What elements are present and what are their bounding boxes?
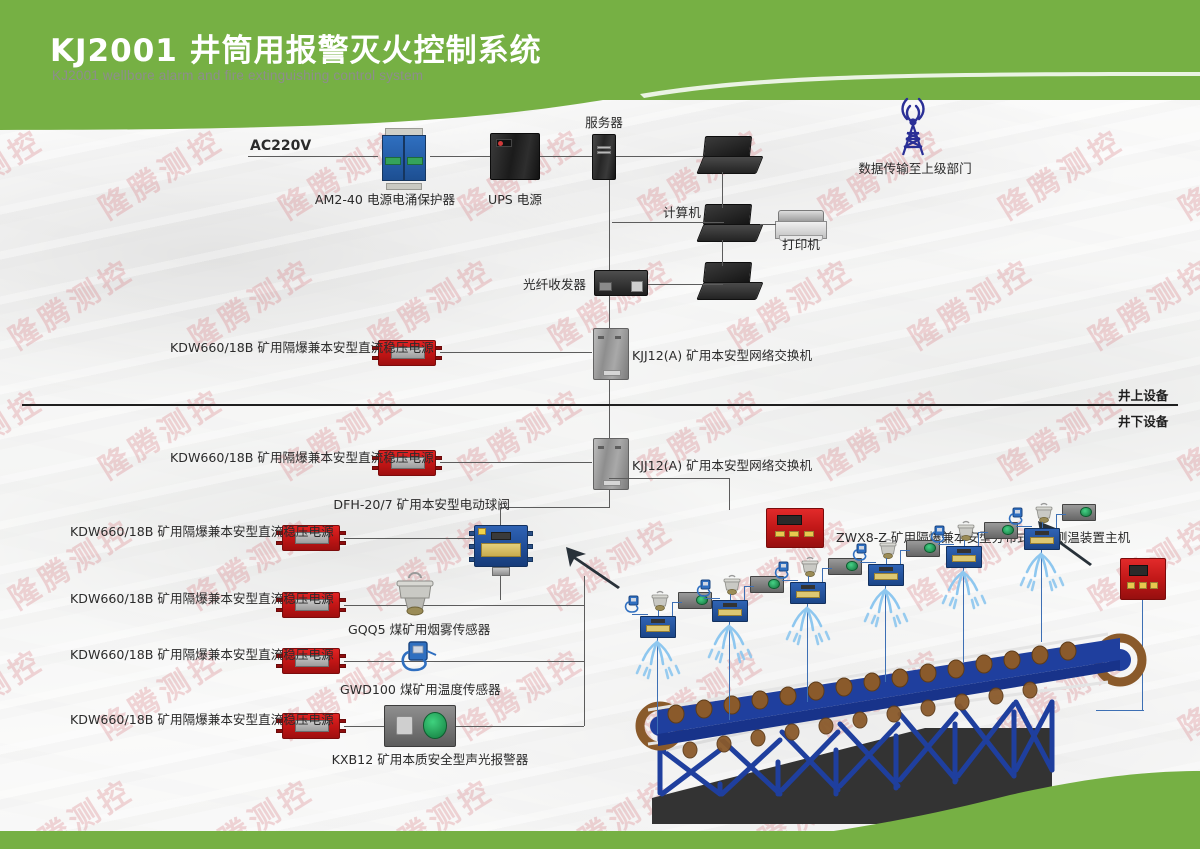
cluster-temp-sensor-icon: [774, 560, 794, 582]
label-computer: 计算机: [663, 203, 701, 222]
label-above-ground: 井上设备: [1118, 385, 1168, 404]
watermark-text: 隆腾测控: [89, 116, 231, 228]
page-subtitle: KJ2001 wellbore alarm and fire extinguis…: [52, 68, 423, 83]
cluster-smoke-sensor-icon: [1032, 502, 1056, 528]
label-power-supply-5: KDW660/18B 矿用隔爆兼本安型直流稳压电源: [70, 710, 275, 729]
label-power-supply-1: KDW660/18B 矿用隔爆兼本安型直流稳压电源: [170, 448, 370, 467]
temperature-sensor-device: [396, 636, 440, 680]
cluster-smoke-sensor-icon: [720, 574, 744, 600]
smoke-sensor-device: [385, 572, 445, 620]
cluster-wire-alarm: [978, 532, 988, 533]
wire-alarm-to-bus: [456, 726, 584, 727]
wire-dts-drop: [729, 478, 730, 510]
wire-switch-to-dts: [609, 478, 729, 479]
cluster-valve-box: [640, 616, 676, 638]
watermark-text: 隆腾测控: [0, 246, 141, 358]
wire-ps5-to-alarm: [344, 726, 384, 727]
label-power-supply-4: KDW660/18B 矿用隔爆兼本安型直流稳压电源: [70, 645, 275, 664]
label-ac220v: AC220V: [250, 137, 311, 156]
watermark-text: 隆腾测控: [899, 246, 1041, 358]
ground-level-divider: [22, 404, 1178, 406]
ups-device: [490, 133, 540, 180]
wire-switch-to-valve-bus: [500, 507, 610, 508]
wire-pc2-pc3: [722, 240, 723, 266]
cluster-wire-alarm: [744, 586, 754, 587]
label-power-supply-2: KDW660/18B 矿用隔爆兼本安型直流稳压电源: [70, 522, 275, 541]
cluster-temp-sensor-icon: [624, 594, 644, 616]
wire-converter-to-switch: [609, 296, 610, 330]
wire-ac-to-surge: [248, 156, 378, 157]
watermark-text: 隆腾测控: [89, 376, 231, 488]
cluster-wire-alarm: [822, 568, 832, 569]
wire-trunk-to-pc2: [612, 222, 724, 223]
switch-underground-device: [593, 438, 629, 490]
label-alarm: KXB12 矿用本质安全型声光报警器: [310, 750, 550, 769]
cluster-valve-box: [712, 600, 748, 622]
diagram-canvas: 隆腾测控隆腾测控隆腾测控隆腾测控隆腾测控隆腾测控隆腾测控隆腾测控隆腾测控隆腾测控…: [0, 0, 1200, 849]
antenna-tower-icon: [885, 95, 941, 157]
cluster-valve-box: [946, 546, 982, 568]
dts-host-device: [766, 508, 824, 548]
watermark-text: 隆腾测控: [0, 116, 51, 228]
cluster-water-spray-icon: [626, 640, 690, 686]
watermark-text: 隆腾测控: [1079, 246, 1200, 358]
cluster-valve-box: [868, 564, 904, 586]
wire-ps2-to-valve: [344, 538, 474, 539]
watermark-text: 隆腾测控: [1169, 376, 1200, 488]
page-title: KJ2001 井筒用报警灭火控制系统: [50, 25, 542, 70]
cluster-alarm-icon: [1062, 504, 1096, 521]
cluster-valve-box: [1024, 528, 1060, 550]
wire-server-down-1: [609, 180, 610, 226]
surge-protector-device: [378, 128, 430, 190]
cluster-water-spray-icon: [776, 606, 840, 652]
label-power-supply-3: KDW660/18B 矿用隔爆兼本安型直流稳压电源: [70, 589, 275, 608]
computer-1: [700, 136, 760, 176]
wire-converter-to-pc3: [645, 284, 723, 285]
alarm-device: [384, 705, 456, 747]
cluster-temp-sensor-icon: [696, 578, 716, 600]
server-device: [592, 134, 616, 180]
valve-actuator: [492, 567, 510, 576]
watermark-text: 隆腾测控: [0, 636, 51, 748]
label-power-surface: KDW660/18B 矿用隔爆兼本安型直流稳压电源: [170, 338, 370, 357]
label-temp-sensor: GWD100 煤矿用温度传感器: [340, 680, 500, 699]
cluster-water-spray-icon: [932, 570, 996, 616]
cluster-wire-alarm: [900, 550, 910, 551]
cluster-wire-alarm: [1056, 514, 1066, 515]
cluster-temp-sensor-icon: [930, 524, 950, 546]
remote-red-device: [1120, 558, 1166, 600]
watermark-text: 隆腾测控: [449, 376, 591, 488]
arrow-to-ball-valve: [560, 545, 622, 589]
label-uplink: 数据传输至上级部门: [850, 159, 980, 178]
wire-ps4-to-bus: [344, 661, 584, 662]
label-fiber-converter: 光纤收发器: [440, 275, 586, 294]
label-switch-underground: KJJ12(A) 矿用本安型网络交换机: [632, 456, 812, 475]
wire-ps1-to-switch: [440, 462, 592, 463]
wire-switch-surface-down: [609, 380, 610, 404]
label-below-ground: 井下设备: [1118, 411, 1168, 430]
cluster-smoke-sensor-icon: [798, 556, 822, 582]
wire-switch-down: [609, 490, 610, 508]
cluster-wire-alarm: [672, 602, 682, 603]
watermark-text: 隆腾测控: [989, 116, 1131, 228]
wire-valve-down: [500, 576, 501, 600]
label-ups: UPS 电源: [470, 190, 560, 209]
label-switch-surface: KJJ12(A) 矿用本安型网络交换机: [632, 346, 812, 365]
wire-server-down-2: [609, 226, 610, 274]
wire-cross-ground: [609, 406, 610, 440]
footer-curve-shape: [0, 771, 1200, 849]
fiber-converter-device: [594, 270, 648, 296]
cluster-water-spray-icon: [1010, 552, 1074, 598]
cluster-smoke-sensor-icon: [954, 520, 978, 546]
wire-ups-to-server: [540, 156, 592, 157]
wire-ps3-to-bus: [344, 605, 584, 606]
ball-valve-device: [474, 525, 528, 567]
cluster-temp-sensor-icon: [852, 542, 872, 564]
watermark-text: 隆腾测控: [989, 376, 1131, 488]
wire-pc1-pc2: [722, 172, 723, 208]
switch-surface-device: [593, 328, 629, 380]
cluster-water-spray-icon: [698, 624, 762, 670]
cluster-temp-sensor-icon: [1008, 506, 1028, 528]
wire-surge-to-ups: [430, 156, 492, 157]
wire-power-to-switch-surface: [440, 352, 592, 353]
watermark-text: 隆腾测控: [809, 376, 951, 488]
label-ball-valve: DFH-20/7 矿用本安型电动球阀: [300, 495, 510, 514]
label-printer: 打印机: [768, 235, 834, 254]
label-server: 服务器: [573, 113, 635, 132]
sensor-cluster: [1024, 528, 1114, 660]
wire-sensor-collector-bus: [584, 576, 585, 726]
cluster-valve-box: [790, 582, 826, 604]
wire-pc2-printer: [760, 224, 776, 225]
watermark-text: 隆腾测控: [0, 376, 51, 488]
cluster-water-spray-icon: [854, 588, 918, 634]
label-surge-protector: AM2-40 电源电涌保护器: [305, 190, 465, 209]
cluster-smoke-sensor-icon: [648, 590, 672, 616]
computer-2: [700, 204, 760, 244]
watermark-text: 隆腾测控: [1169, 116, 1200, 228]
computer-3: [700, 262, 760, 302]
cluster-smoke-sensor-icon: [876, 538, 900, 564]
